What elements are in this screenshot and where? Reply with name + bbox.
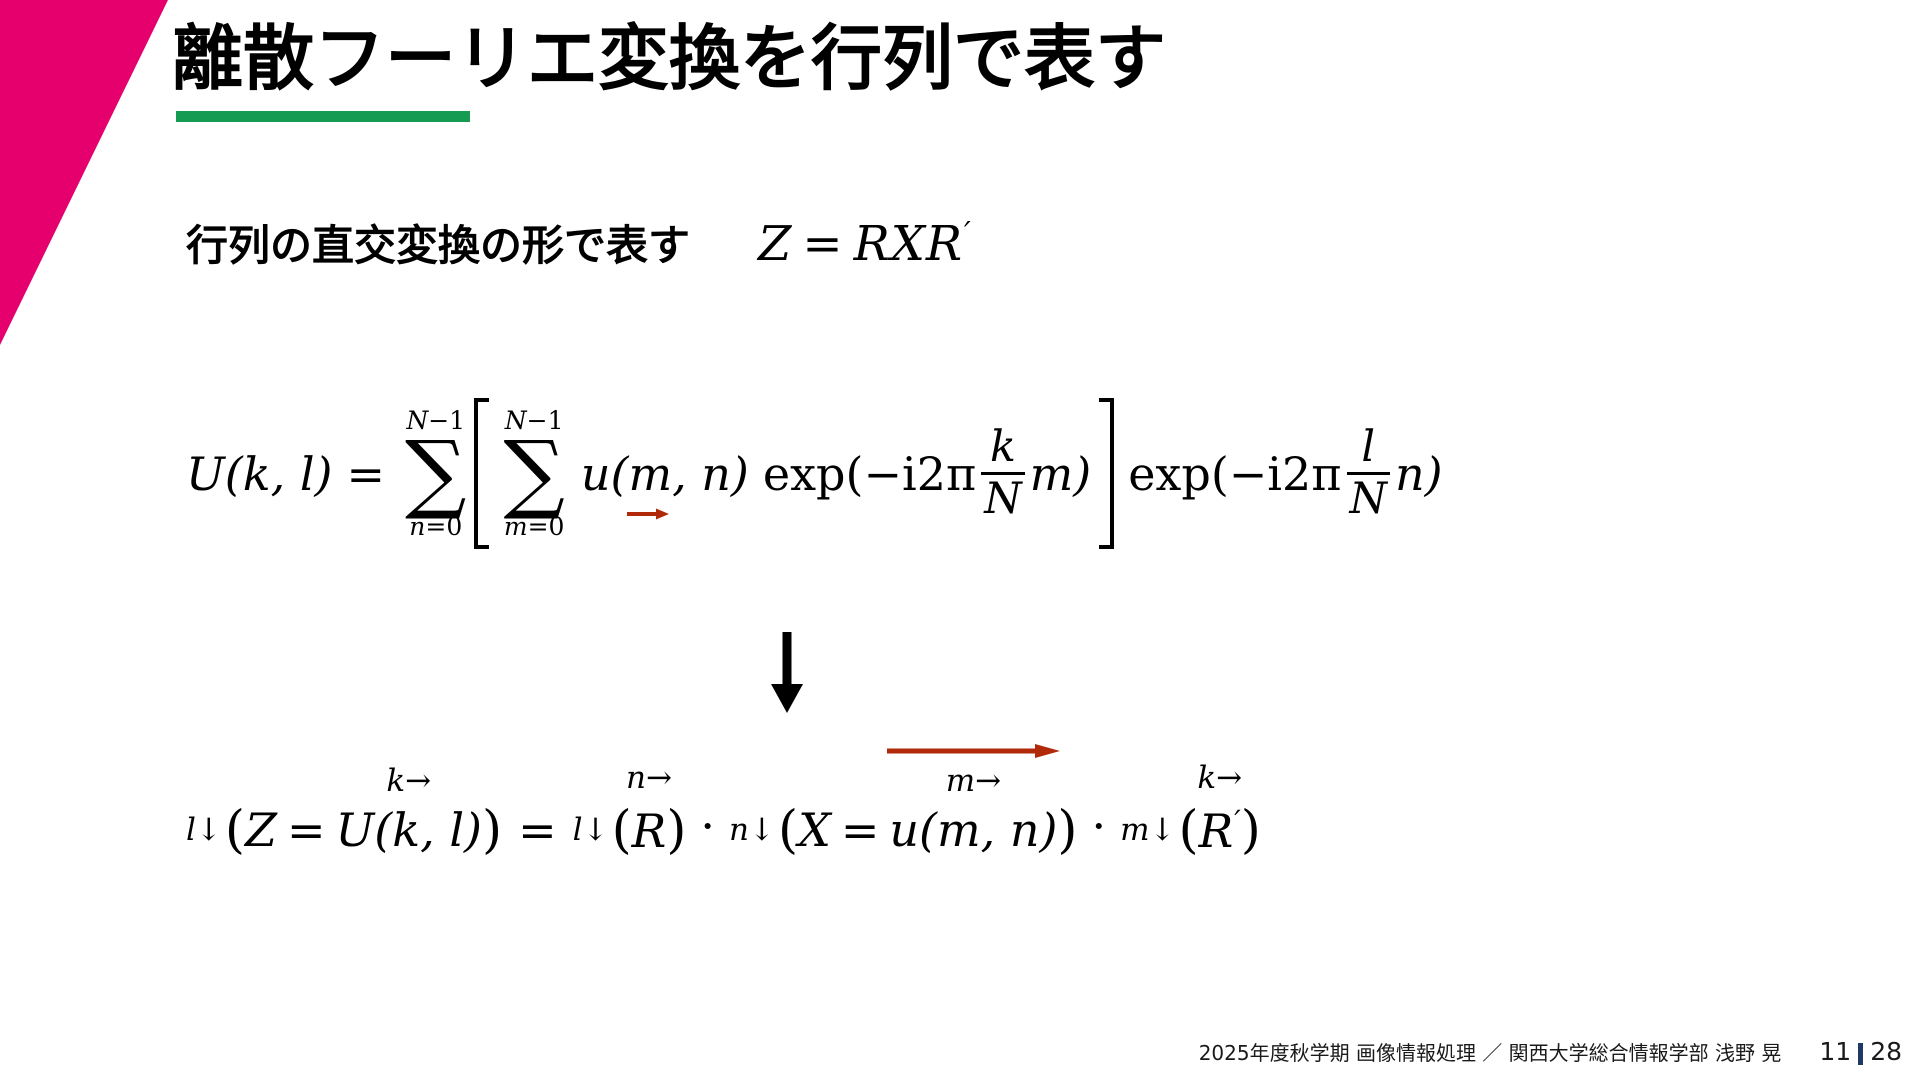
formula-R2: R — [926, 216, 963, 272]
equation-dft-double-sum: U(k, l) = N−1 ∑ n=0 N−1 ∑ m=0 u(m, n) ex… — [186, 398, 1443, 549]
exp-outer-open: exp(−i2π — [1128, 447, 1341, 501]
group3-X: X — [798, 803, 831, 857]
formula-X: X — [891, 216, 926, 272]
subtitle-formula: Z=RXR′ — [758, 216, 972, 272]
exp-outer-fraction: l N — [1347, 425, 1390, 522]
subtitle-text: 行列の直交変換の形で表す — [186, 212, 690, 273]
m-column-arrow-icon — [885, 743, 1061, 759]
group1-paren-close: ) — [482, 800, 502, 860]
title-block: 離散フーリエ変換を行列で表す — [172, 22, 1672, 122]
page-title: 離散フーリエ変換を行列で表す — [172, 22, 1672, 97]
page-current: 11 — [1819, 1037, 1851, 1066]
title-underline-rule — [176, 111, 470, 122]
group2-R: R — [632, 804, 667, 858]
page-separator-icon — [1858, 1043, 1863, 1065]
sigma-icon: ∑ — [503, 434, 564, 513]
col-label-k-right-2: k→ — [1197, 760, 1242, 796]
group2-paren-open: ( — [612, 800, 632, 860]
equation-matrix-form: l↓ ( Z = k→ U(k, l) ) = l↓ n→ (R) · n↓ (… — [186, 800, 1261, 860]
inner-summation: N−1 ∑ m=0 — [503, 408, 564, 539]
matrix-product-dot-1: · — [686, 799, 729, 853]
outer-summation: N−1 ∑ n=0 — [405, 408, 466, 539]
row-label-n-down: n↓ — [729, 812, 775, 848]
exp-inner-open: exp(−i2π — [763, 447, 976, 501]
exp-outer-tail: n) — [1395, 447, 1443, 501]
col-label-k-right-1: k→ — [386, 763, 431, 799]
group1-Z: Z — [245, 803, 277, 857]
group3-paren-open: ( — [778, 800, 798, 860]
row-label-m-down: m↓ — [1120, 812, 1175, 848]
exp-inner-tail: m) — [1030, 447, 1092, 501]
signal-n-close: , n) — [672, 447, 749, 501]
bracket-left-icon — [474, 398, 491, 549]
group3-paren-close: ) — [1057, 800, 1077, 860]
equation-equals: = — [333, 447, 400, 501]
group4-paren-open: ( — [1179, 800, 1199, 860]
sigma-icon: ∑ — [405, 434, 466, 513]
page-total: 28 — [1870, 1037, 1902, 1066]
exp-inner-fraction: k N — [981, 425, 1024, 522]
bracket-right-icon — [1097, 398, 1114, 549]
group1-paren-open: ( — [225, 800, 245, 860]
page-indicator: 11 28 — [1819, 1037, 1902, 1066]
col-label-m-right: m→ — [946, 763, 1001, 799]
group3-u: u(m, n) — [889, 803, 1057, 857]
row-label-l-down-2: l↓ — [573, 812, 609, 848]
signal-u-open: u( — [581, 447, 629, 501]
exp-outer-frac-denominator: N — [1347, 477, 1390, 522]
matrix-equals: = — [502, 803, 573, 857]
equation-lhs: U(k, l) — [186, 447, 333, 501]
group4-Rprime-labeled: k→ (R′) — [1179, 800, 1261, 860]
bracket-group: N−1 ∑ m=0 u(m, n) exp(−i2π k N m) — [474, 398, 1114, 549]
formula-R1: R — [854, 216, 891, 272]
signal-m: m — [628, 447, 672, 501]
col-label-n-right: n→ — [626, 760, 672, 796]
inner-sum-lower-limit: m=0 — [504, 514, 565, 539]
row-label-l-down-1: l↓ — [186, 812, 222, 848]
group4-R: R — [1199, 804, 1234, 858]
subtitle-row: 行列の直交変換の形で表す Z=RXR′ — [186, 212, 972, 273]
exp-outer-frac-numerator: l — [1358, 425, 1378, 470]
group1-U: U(k, l) — [336, 803, 483, 857]
accent-wedge-shape — [0, 0, 190, 345]
formula-R2-prime: ′ — [964, 216, 972, 251]
exp-inner-frac-numerator: k — [987, 425, 1019, 470]
group4-paren-close: ) — [1241, 800, 1261, 860]
signal-m-annotated: m — [628, 447, 672, 501]
formula-equals: = — [792, 216, 853, 272]
m-index-arrow-icon — [626, 508, 670, 520]
group3-u-labeled: m→ u(m, n) — [889, 803, 1057, 857]
footer: 2025年度秋学期 画像情報処理 ／ 関西大学総合情報学部 浅野 晃 11 28 — [1199, 1037, 1902, 1066]
group1-equals: = — [277, 803, 336, 857]
group2-R-labeled: n→ (R) — [612, 800, 687, 860]
exp-inner-frac-denominator: N — [981, 477, 1024, 522]
bracket-contents: N−1 ∑ m=0 u(m, n) exp(−i2π k N m) — [491, 398, 1097, 549]
group1-U-labeled: k→ U(k, l) — [336, 803, 483, 857]
formula-Z: Z — [758, 216, 792, 272]
group2-paren-close: ) — [666, 800, 686, 860]
group3-equals: = — [831, 803, 890, 857]
footer-credit-text: 2025年度秋学期 画像情報処理 ／ 関西大学総合情報学部 浅野 晃 — [1199, 1037, 1782, 1066]
down-arrow-icon — [770, 632, 804, 714]
matrix-product-dot-2: · — [1078, 799, 1121, 853]
outer-sum-lower-limit: n=0 — [409, 514, 462, 539]
signal-term: u(m, n) — [581, 447, 749, 501]
